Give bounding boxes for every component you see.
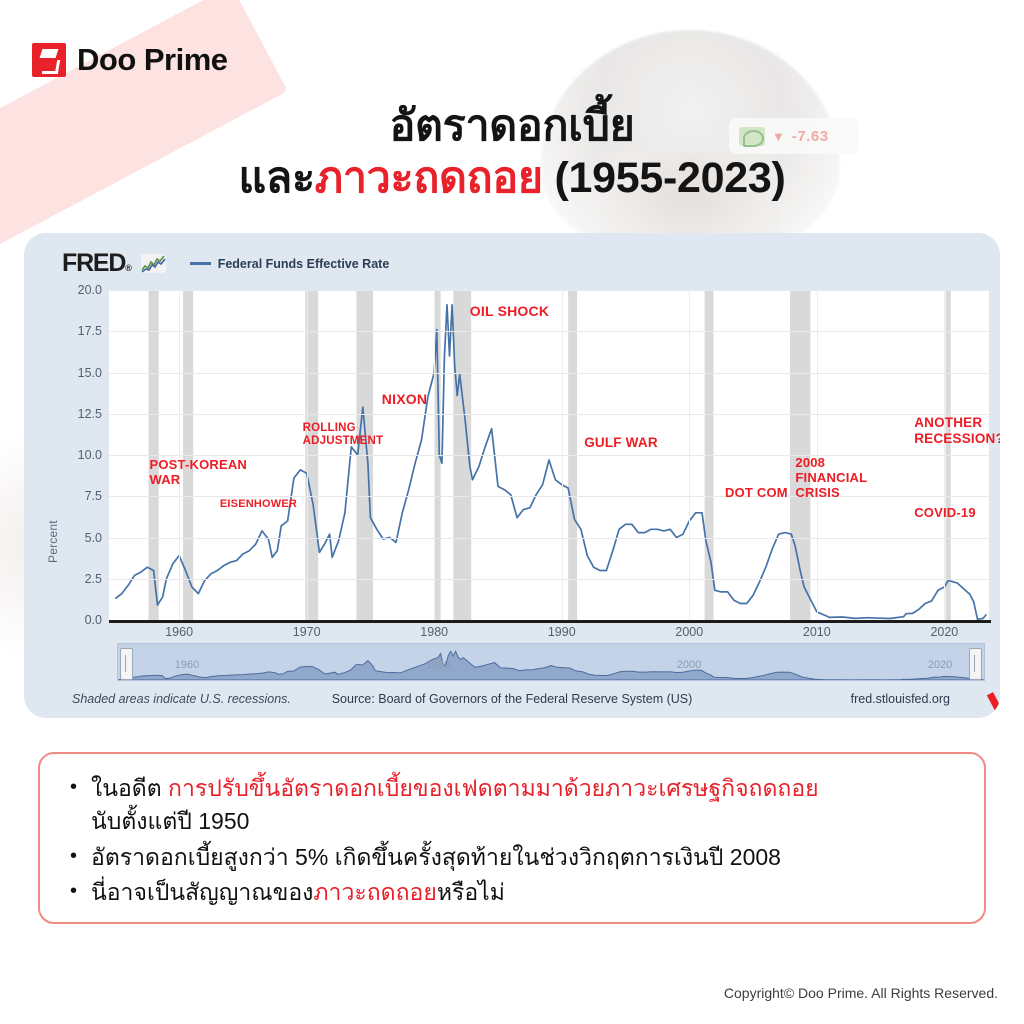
gridline-vertical: [944, 290, 945, 620]
x-tick-label: 1960: [165, 625, 193, 639]
fred-url: fred.stlouisfed.org: [851, 692, 950, 706]
fred-chart-card: FRED® Federal Funds Effective Rate Perce…: [24, 233, 1000, 718]
copyright-notice: Copyright© Doo Prime. All Rights Reserve…: [724, 985, 998, 1001]
minimap-tick-label: 1980: [426, 659, 450, 671]
title-suffix: (1955-2023): [543, 154, 786, 202]
gridline: [109, 373, 989, 374]
gridline: [109, 579, 989, 580]
annotation-another-recession: ANOTHER RECESSION?: [914, 415, 1000, 446]
minimap-area-chart: [118, 644, 984, 680]
annotation-post-korean-war: POST-KOREAN WAR: [149, 457, 247, 487]
gridline-vertical: [179, 290, 180, 620]
annotation-nixon: NIXON: [382, 391, 427, 407]
x-tick-label: 1980: [420, 625, 448, 639]
legend-label: Federal Funds Effective Rate: [218, 256, 390, 270]
brand-logo: Doo Prime: [32, 42, 228, 78]
annotation-financial-crisis-2008: 2008 FINANCIAL CRISIS: [795, 455, 867, 500]
y-tick-label: 15.0: [56, 366, 102, 380]
gridline: [109, 414, 989, 415]
bullet-dot: •: [70, 772, 77, 839]
x-tick-label: 2000: [675, 625, 703, 639]
annotation-eisenhower: EISENHOWER: [220, 498, 297, 511]
text-segment: การปรับขึ้นอัตราดอกเบี้ยของเฟดตามมาด้วยภ…: [168, 775, 819, 801]
key-point-text: นี่อาจเป็นสัญญาณของภาวะถดถอยหรือไม่: [91, 876, 954, 909]
chart-range-minimap[interactable]: 1960198020002020: [117, 643, 985, 681]
annotation-arrow-post-korean-war: [131, 716, 173, 718]
fred-logo: FRED®: [62, 249, 131, 278]
minimap-handle-left[interactable]: [120, 648, 133, 680]
y-axis-ticks: 0.02.55.07.510.012.515.017.520.0: [56, 290, 102, 620]
bullet-dot: •: [70, 876, 77, 909]
legend-swatch: [190, 262, 211, 265]
gridline-vertical: [562, 290, 563, 620]
key-point-item: •อัตราดอกเบี้ยสูงกว่า 5% เกิดขึ้นครั้งสุ…: [70, 841, 954, 874]
annotation-oil-shock: OIL SHOCK: [470, 303, 549, 319]
x-tick-label: 1970: [293, 625, 321, 639]
minimap-tick-label: 2020: [928, 659, 952, 671]
key-points-box: •ในอดีต การปรับขึ้นอัตราดอกเบี้ยของเฟดตา…: [38, 752, 986, 924]
annotation-covid-19: COVID-19: [914, 505, 976, 520]
key-point-item: •ในอดีต การปรับขึ้นอัตราดอกเบี้ยของเฟดตา…: [70, 772, 954, 839]
minimap-tick-label: 1960: [175, 659, 199, 671]
gridline-vertical: [307, 290, 308, 620]
key-point-text: ในอดีต การปรับขึ้นอัตราดอกเบี้ยของเฟดตาม…: [91, 772, 954, 839]
fred-header: FRED® Federal Funds Effective Rate: [62, 249, 389, 278]
gridline-vertical: [689, 290, 690, 620]
annotation-rolling-adjustment: ROLLING ADJUSTMENT: [303, 422, 384, 449]
x-tick-label: 2020: [930, 625, 958, 639]
doo-prime-flag-icon: [32, 43, 66, 77]
annotation-gulf-war: GULF WAR: [584, 435, 658, 451]
minimap-tick-label: 2000: [677, 659, 701, 671]
annotation-dot-com: DOT COM: [725, 485, 788, 500]
y-tick-label: 20.0: [56, 283, 102, 297]
text-segment: นับตั้งแต่ปี 1950: [91, 808, 249, 834]
gridline: [109, 538, 989, 539]
bullet-dot: •: [70, 841, 77, 874]
gridline: [109, 331, 989, 332]
gridline: [109, 290, 989, 291]
x-tick-label: 2010: [803, 625, 831, 639]
y-tick-label: 10.0: [56, 448, 102, 462]
x-axis-line: [109, 620, 991, 623]
text-segment: นี่อาจเป็นสัญญาณของ: [91, 879, 313, 905]
minimap-handle-right[interactable]: [969, 648, 982, 680]
y-tick-label: 5.0: [56, 531, 102, 545]
y-tick-label: 12.5: [56, 407, 102, 421]
x-tick-label: 1990: [548, 625, 576, 639]
key-point-item: •นี่อาจเป็นสัญญาณของภาวะถดถอยหรือไม่: [70, 876, 954, 909]
page-title: อัตราดอกเบี้ย และภาวะถดถอย (1955-2023): [0, 100, 1024, 205]
title-highlight: ภาวะถดถอย: [315, 154, 543, 202]
sparkline-icon: [141, 254, 166, 273]
recession-note: Shaded areas indicate U.S. recessions.: [72, 692, 291, 706]
y-tick-label: 17.5: [56, 324, 102, 338]
key-point-text: อัตราดอกเบี้ยสูงกว่า 5% เกิดขึ้นครั้งสุด…: [91, 841, 954, 874]
annotation-arrow-another-recession: [978, 686, 1000, 718]
brand-name: Doo Prime: [77, 42, 228, 78]
title-line-1: อัตราดอกเบี้ย: [0, 100, 1024, 152]
y-tick-label: 2.5: [56, 572, 102, 586]
gridline-vertical: [434, 290, 435, 620]
text-segment: หรือไม่: [437, 879, 505, 905]
legend-entry: Federal Funds Effective Rate: [176, 255, 390, 273]
text-segment: ในอดีต: [91, 775, 168, 801]
title-line-2: และภาวะถดถอย (1955-2023): [0, 152, 1024, 204]
y-tick-label: 7.5: [56, 489, 102, 503]
text-segment: อัตราดอกเบี้ยสูงกว่า 5% เกิดขึ้นครั้งสุด…: [91, 844, 781, 870]
y-tick-label: 0.0: [56, 613, 102, 627]
title-prefix: และ: [239, 154, 315, 202]
source-note: Source: Board of Governors of the Federa…: [332, 692, 693, 706]
text-segment: ภาวะถดถอย: [313, 879, 436, 905]
